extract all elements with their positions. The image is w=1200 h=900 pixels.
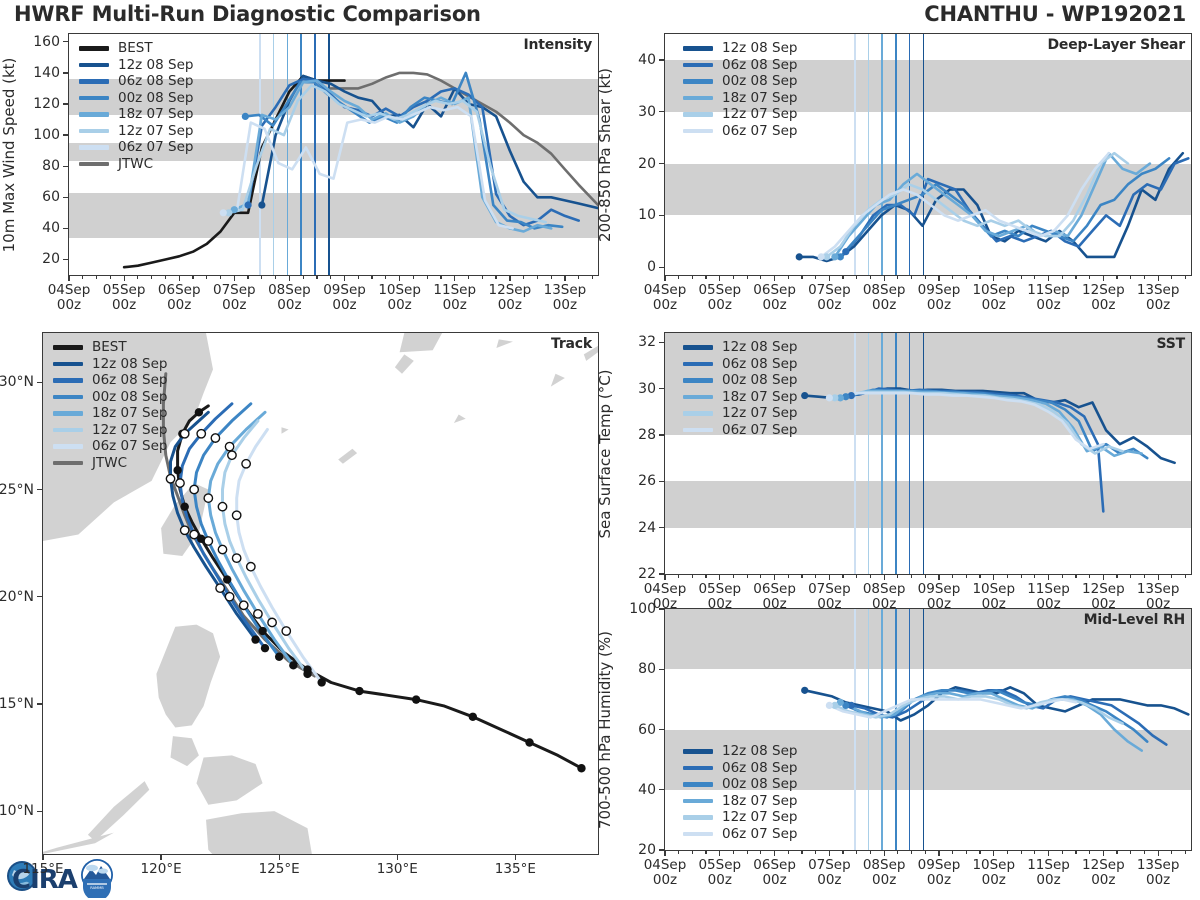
- x-tick-hour: 00z: [553, 297, 577, 313]
- intensity-x-tick-minor: [523, 276, 524, 279]
- forecast-track-marker: [232, 511, 240, 519]
- shear-x-tick-mark: [664, 276, 665, 281]
- sst-x-tick-minor: [1034, 575, 1035, 578]
- legend-item-label: 00z 08 Sep: [92, 389, 167, 405]
- legend-item: 00z 08 Sep: [683, 73, 797, 90]
- x-tick-hour: 00z: [1091, 297, 1115, 313]
- shear-y-tick-label: 0: [647, 259, 656, 275]
- intensity-x-tick-minor: [440, 276, 441, 279]
- forecast-track-marker: [218, 545, 226, 553]
- rh-x-tick-minor: [1130, 851, 1131, 854]
- forecast-track-marker: [232, 554, 240, 562]
- x-tick-date: 10Sep: [378, 282, 421, 298]
- legend-item: 06z 08 Sep: [53, 372, 167, 389]
- legend-item-label: 00z 08 Sep: [722, 372, 797, 388]
- track-y-tick-mark: [37, 811, 42, 812]
- forecast-track-marker: [181, 430, 189, 438]
- shear-x-tick-mark: [938, 276, 939, 281]
- rh-x-tick-minor: [1185, 851, 1186, 854]
- shear-x-tick-minor: [870, 276, 871, 279]
- legend-swatch-icon: [683, 815, 713, 820]
- intensity-x-tick-minor: [495, 276, 496, 279]
- intensity-init-marker: [220, 209, 227, 216]
- rh-x-tick-minor: [870, 851, 871, 854]
- shear-y-tick-mark: [659, 215, 664, 216]
- forecast-track-marker: [242, 460, 250, 468]
- sst-y-tick-mark: [659, 342, 664, 343]
- shear-x-tick-label: 13Sep00z: [1137, 283, 1180, 313]
- intensity-y-axis-label: 10m Max Wind Speed (kt): [0, 57, 18, 252]
- legend-item: 12z 08 Sep: [79, 57, 193, 74]
- page-title-left: HWRF Multi-Run Diagnostic Comparison: [14, 2, 481, 26]
- forecast-track-marker: [204, 494, 212, 502]
- shear-x-tick-mark: [719, 276, 720, 281]
- rh-x-tick-minor: [1021, 851, 1022, 854]
- intensity-x-tick-minor: [303, 276, 304, 279]
- rh-x-tick-minor: [911, 851, 912, 854]
- shear-init-marker: [842, 248, 849, 255]
- legend-swatch-icon: [53, 444, 83, 449]
- intensity-x-tick-label: 10Sep00z: [378, 283, 421, 313]
- shear-x-tick-minor: [801, 276, 802, 279]
- legend-item-label: 18z 07 Sep: [118, 106, 193, 122]
- x-tick-hour: 00z: [1091, 596, 1115, 612]
- legend-item: BEST: [53, 339, 167, 356]
- shear-x-tick-minor: [1116, 276, 1117, 279]
- shear-x-tick-minor: [966, 276, 967, 279]
- legend-item: 18z 07 Sep: [53, 405, 167, 422]
- sst-x-tick-minor: [1089, 575, 1090, 578]
- sst-y-tick-label: 28: [638, 427, 656, 443]
- intensity-x-tick-mark: [344, 276, 345, 281]
- rh-x-tick-mark: [1158, 851, 1159, 856]
- forecast-track-marker: [254, 610, 262, 618]
- x-tick-hour: 00z: [872, 872, 896, 888]
- shear-x-tick-minor: [788, 276, 789, 279]
- legend-item: 12z 08 Sep: [683, 339, 797, 356]
- rh-x-tick-mark: [1048, 851, 1049, 856]
- x-tick-hour: 00z: [872, 596, 896, 612]
- shear-init-marker: [818, 253, 825, 260]
- sst-x-tick-minor: [952, 575, 953, 578]
- legend-item-label: 12z 07 Sep: [722, 405, 797, 421]
- x-tick-hour: 00z: [982, 596, 1006, 612]
- intensity-x-tick-label: 13Sep00z: [544, 283, 587, 313]
- intensity-x-tick-minor: [371, 276, 372, 279]
- legend-item-label: 12z 08 Sep: [722, 339, 797, 355]
- intensity-x-tick-mark: [454, 276, 455, 281]
- x-tick-date: 05Sep: [698, 857, 741, 873]
- shear-y-tick-mark: [659, 59, 664, 60]
- forecast-track-marker: [190, 530, 198, 538]
- sst-y-tick-label: 30: [638, 381, 656, 397]
- rh-x-tick-label: 10Sep00z: [972, 858, 1015, 888]
- sst-x-tick-minor: [678, 575, 679, 578]
- forecast-init-marker: [251, 635, 259, 643]
- sst-x-tick-minor: [815, 575, 816, 578]
- best-track-marker: [412, 695, 420, 703]
- x-tick-date: 12Sep: [1082, 857, 1125, 873]
- x-tick-date: 09Sep: [323, 282, 366, 298]
- legend-item: 12z 08 Sep: [683, 743, 797, 760]
- sst-x-tick-mark: [719, 575, 720, 580]
- legend-item-label: JTWC: [92, 455, 127, 471]
- rh-legend: 12z 08 Sep06z 08 Sep00z 08 Sep18z 07 Sep…: [679, 741, 801, 844]
- legend-item: 00z 08 Sep: [79, 90, 193, 107]
- track-y-tick-mark: [37, 489, 42, 490]
- x-tick-hour: 00z: [653, 872, 677, 888]
- track-x-tick-label: 130°E: [377, 862, 418, 877]
- legend-item: 12z 07 Sep: [683, 106, 797, 123]
- intensity-y-tick-mark: [63, 259, 68, 260]
- x-tick-date: 04Sep: [48, 282, 91, 298]
- track-y-tick-label: 20°N: [0, 589, 34, 605]
- sst-x-tick-label: 11Sep00z: [1027, 582, 1070, 612]
- legend-item-label: 06z 07 Sep: [722, 123, 797, 139]
- x-tick-hour: 00z: [443, 297, 467, 313]
- rh-x-tick-label: 09Sep00z: [918, 858, 961, 888]
- x-tick-date: 13Sep: [1137, 857, 1180, 873]
- rh-x-tick-minor: [760, 851, 761, 854]
- intensity-x-tick-minor: [578, 276, 579, 279]
- sst-y-tick-label: 24: [638, 520, 656, 536]
- intensity-y-tick-label: 60: [42, 189, 60, 205]
- legend-item: 06z 08 Sep: [683, 57, 797, 74]
- sst-init-marker: [826, 394, 833, 401]
- shear-x-tick-minor: [733, 276, 734, 279]
- intensity-y-tick-label: 160: [33, 34, 60, 50]
- track-y-tick-mark: [37, 382, 42, 383]
- rh-x-tick-mark: [774, 851, 775, 856]
- intensity-plot-area[interactable]: IntensityBEST12z 08 Sep06z 08 Sep00z 08 …: [68, 33, 599, 276]
- intensity-x-tick-label: 09Sep00z: [323, 283, 366, 313]
- x-tick-date: 08Sep: [268, 282, 311, 298]
- x-tick-hour: 00z: [387, 297, 411, 313]
- rh-x-tick-mark: [1103, 851, 1104, 856]
- shear-x-tick-minor: [842, 276, 843, 279]
- forecast-init-marker: [317, 678, 325, 686]
- x-tick-date: 05Sep: [698, 581, 741, 597]
- legend-item: 00z 08 Sep: [53, 389, 167, 406]
- rh-x-tick-minor: [692, 851, 693, 854]
- x-tick-date: 06Sep: [753, 581, 796, 597]
- x-tick-date: 11Sep: [1027, 857, 1070, 873]
- shear-x-tick-minor: [705, 276, 706, 279]
- legend-swatch-icon: [683, 799, 713, 804]
- sst-x-tick-label: 10Sep00z: [972, 582, 1015, 612]
- intensity-x-tick-minor: [261, 276, 262, 279]
- intensity-x-tick-minor: [192, 276, 193, 279]
- x-tick-hour: 00z: [817, 872, 841, 888]
- intensity-x-tick-label: 12Sep00z: [489, 283, 532, 313]
- x-tick-hour: 00z: [332, 297, 356, 313]
- legend-swatch-icon: [79, 79, 109, 84]
- rh-x-tick-minor: [925, 851, 926, 854]
- rh-x-tick-label: 08Sep00z: [863, 858, 906, 888]
- sst-x-tick-minor: [801, 575, 802, 578]
- sst-plot-area[interactable]: SST12z 08 Sep06z 08 Sep00z 08 Sep18z 07 …: [664, 332, 1192, 575]
- shear-plot-area[interactable]: Deep-Layer Shear12z 08 Sep06z 08 Sep00z …: [664, 33, 1192, 276]
- x-tick-hour: 00z: [762, 872, 786, 888]
- coastline-palawan: [88, 781, 149, 841]
- shear-x-tick-label: 07Sep00z: [808, 283, 851, 313]
- track-y-tick-mark: [37, 703, 42, 704]
- coastline-mindanao: [206, 811, 312, 855]
- rh-y-tick-label: 40: [638, 782, 656, 798]
- shear-x-tick-minor: [1007, 276, 1008, 279]
- x-tick-date: 10Sep: [972, 857, 1015, 873]
- rh-x-tick-minor: [1171, 851, 1172, 854]
- x-tick-hour: 00z: [708, 872, 732, 888]
- sst-x-tick-minor: [979, 575, 980, 578]
- best-track-marker: [173, 466, 181, 474]
- shear-y-tick-mark: [659, 163, 664, 164]
- track-x-tick-label: 115°E: [22, 862, 63, 877]
- rh-y-tick-label: 80: [638, 661, 656, 677]
- x-tick-date: 12Sep: [1082, 581, 1125, 597]
- intensity-x-tick-label: 05Sep00z: [103, 283, 146, 313]
- forecast-track-marker: [197, 430, 205, 438]
- legend-item: 06z 07 Sep: [683, 422, 797, 439]
- sst-x-tick-mark: [829, 575, 830, 580]
- rh-x-tick-label: 06Sep00z: [753, 858, 796, 888]
- x-tick-hour: 00z: [872, 297, 896, 313]
- rh-y-tick-mark: [659, 729, 664, 730]
- shear-x-tick-label: 08Sep00z: [863, 283, 906, 313]
- legend-item-label: 12z 08 Sep: [722, 743, 797, 759]
- legend-item: 12z 08 Sep: [53, 356, 167, 373]
- best-track-marker: [258, 627, 266, 635]
- sst-x-tick-minor: [1130, 575, 1131, 578]
- rh-x-tick-mark: [938, 851, 939, 856]
- shear-x-tick-mark: [884, 276, 885, 281]
- coastline-china-inland: [42, 333, 43, 565]
- legend-swatch-icon: [53, 461, 83, 466]
- legend-item: 18z 07 Sep: [683, 389, 797, 406]
- coastline-kyushu: [400, 333, 443, 352]
- x-tick-date: 13Sep: [1137, 581, 1180, 597]
- shear-x-tick-label: 12Sep00z: [1082, 283, 1125, 313]
- rh-x-tick-minor: [815, 851, 816, 854]
- legend-swatch-icon: [683, 411, 713, 416]
- rh-x-tick-label: 11Sep00z: [1027, 858, 1070, 888]
- rh-x-tick-minor: [842, 851, 843, 854]
- intensity-legend: BEST12z 08 Sep06z 08 Sep00z 08 Sep18z 07…: [75, 38, 197, 174]
- forecast-track-marker: [204, 537, 212, 545]
- forecast-init-marker: [303, 670, 311, 678]
- track-x-tick-mark: [397, 855, 398, 860]
- rh-x-tick-label: 04Sep00z: [644, 858, 687, 888]
- x-tick-date: 07Sep: [808, 857, 851, 873]
- intensity-x-tick-minor: [275, 276, 276, 279]
- legend-swatch-icon: [53, 345, 83, 350]
- intensity-x-tick-mark: [68, 276, 69, 281]
- page-title-right: CHANTHU - WP192021: [924, 2, 1186, 26]
- legend-item: 18z 07 Sep: [683, 793, 797, 810]
- sst-x-tick-mark: [938, 575, 939, 580]
- shear-x-tick-minor: [678, 276, 679, 279]
- rh-y-tick-mark: [659, 789, 664, 790]
- forecast-track-marker: [190, 485, 198, 493]
- shear-x-tick-label: 04Sep00z: [644, 283, 687, 313]
- sst-x-tick-minor: [925, 575, 926, 578]
- shear-init-marker: [796, 253, 803, 260]
- sst-y-tick-mark: [659, 527, 664, 528]
- legend-swatch-icon: [683, 378, 713, 383]
- intensity-x-tick-minor: [427, 276, 428, 279]
- shear-x-tick-mark: [829, 276, 830, 281]
- coastline-visayas-2: [197, 755, 263, 804]
- best-track-marker: [223, 575, 231, 583]
- sst-y-tick-mark: [659, 388, 664, 389]
- x-tick-date: 13Sep: [1137, 282, 1180, 298]
- intensity-x-tick-minor: [151, 276, 152, 279]
- forecast-track-marker: [181, 526, 189, 534]
- sst-x-tick-mark: [1103, 575, 1104, 580]
- intensity-x-tick-minor: [96, 276, 97, 279]
- shear-x-tick-minor: [1034, 276, 1035, 279]
- forecast-track-marker: [268, 618, 276, 626]
- shear-panel-title: Deep-Layer Shear: [1048, 37, 1185, 53]
- legend-swatch-icon: [683, 749, 713, 754]
- rh-y-axis-label: 700-500 hPa Humidity (%): [596, 630, 614, 828]
- legend-swatch-icon: [683, 79, 713, 84]
- x-tick-date: 11Sep: [433, 282, 476, 298]
- forecast-init-marker: [275, 653, 283, 661]
- sst-y-axis-label: Sea Surface Temp (°C): [596, 369, 614, 538]
- rh-y-tick-mark: [659, 669, 664, 670]
- track-plot-area[interactable]: TrackBEST12z 08 Sep06z 08 Sep00z 08 Sep1…: [42, 332, 599, 855]
- shear-x-tick-minor: [897, 276, 898, 279]
- shear-y-tick-mark: [659, 111, 664, 112]
- x-tick-date: 12Sep: [489, 282, 532, 298]
- sst-x-tick-minor: [1185, 575, 1186, 578]
- forecast-track-marker: [228, 451, 236, 459]
- intensity-x-tick-minor: [82, 276, 83, 279]
- rh-panel-title: Mid-Level RH: [1084, 612, 1185, 628]
- forecast-track-marker: [225, 442, 233, 450]
- intensity-y-tick-label: 100: [33, 127, 60, 143]
- x-tick-date: 08Sep: [863, 581, 906, 597]
- sst-x-tick-label: 12Sep00z: [1082, 582, 1125, 612]
- sst-x-tick-label: 05Sep00z: [698, 582, 741, 612]
- sst-x-tick-minor: [911, 575, 912, 578]
- sst-x-tick-minor: [1171, 575, 1172, 578]
- track-x-tick-mark: [279, 855, 280, 860]
- rh-x-tick-minor: [856, 851, 857, 854]
- sst-x-tick-label: 06Sep00z: [753, 582, 796, 612]
- forecast-track-marker: [218, 502, 226, 510]
- legend-swatch-icon: [683, 766, 713, 771]
- sst-x-tick-minor: [760, 575, 761, 578]
- sst-x-tick-minor: [747, 575, 748, 578]
- rh-y-tick-label: 20: [638, 842, 656, 858]
- x-tick-hour: 00z: [1036, 297, 1060, 313]
- shear-x-tick-mark: [1103, 276, 1104, 281]
- rh-plot-area[interactable]: Mid-Level RH12z 08 Sep06z 08 Sep00z 08 S…: [664, 608, 1192, 851]
- legend-swatch-icon: [683, 46, 713, 51]
- intensity-x-tick-label: 07Sep00z: [213, 283, 256, 313]
- sst-x-tick-label: 07Sep00z: [808, 582, 851, 612]
- x-tick-hour: 00z: [222, 297, 246, 313]
- shear-x-tick-label: 09Sep00z: [918, 283, 961, 313]
- track-x-tick-label: 120°E: [141, 862, 182, 877]
- coastline-islet-1: [454, 415, 466, 424]
- legend-swatch-icon: [53, 395, 83, 400]
- legend-swatch-icon: [79, 63, 109, 68]
- x-tick-hour: 00z: [653, 596, 677, 612]
- x-tick-date: 08Sep: [863, 857, 906, 873]
- x-tick-hour: 00z: [1036, 872, 1060, 888]
- track-x-tick-mark: [160, 855, 161, 860]
- shear-x-tick-mark: [774, 276, 775, 281]
- rh-x-tick-minor: [788, 851, 789, 854]
- legend-swatch-icon: [53, 362, 83, 367]
- x-tick-hour: 00z: [498, 297, 522, 313]
- legend-swatch-icon: [683, 112, 713, 117]
- shear-x-tick-minor: [1062, 276, 1063, 279]
- legend-item: 18z 07 Sep: [79, 106, 193, 123]
- shear-x-tick-minor: [1130, 276, 1131, 279]
- shear-x-tick-minor: [1144, 276, 1145, 279]
- legend-item-label: 18z 07 Sep: [722, 793, 797, 809]
- sst-y-tick-mark: [659, 573, 664, 574]
- legend-item: 06z 07 Sep: [683, 123, 797, 140]
- rh-x-tick-minor: [733, 851, 734, 854]
- track-y-tick-mark: [37, 596, 42, 597]
- legend-item: JTWC: [53, 455, 167, 472]
- rh-y-tick-mark: [659, 608, 664, 609]
- x-tick-date: 05Sep: [103, 282, 146, 298]
- track-y-tick-label: 25°N: [0, 482, 34, 498]
- legend-item: 12z 07 Sep: [683, 809, 797, 826]
- sst-x-tick-minor: [705, 575, 706, 578]
- legend-swatch-icon: [683, 96, 713, 101]
- legend-item-label: 06z 07 Sep: [92, 438, 167, 454]
- shear-x-tick-minor: [1089, 276, 1090, 279]
- x-tick-date: 07Sep: [213, 282, 256, 298]
- legend-item-label: 12z 07 Sep: [722, 106, 797, 122]
- shear-x-tick-minor: [979, 276, 980, 279]
- legend-item: 12z 07 Sep: [683, 405, 797, 422]
- x-tick-date: 09Sep: [918, 857, 961, 873]
- x-tick-hour: 00z: [708, 297, 732, 313]
- legend-item: 12z 07 Sep: [79, 123, 193, 140]
- x-tick-hour: 00z: [927, 872, 951, 888]
- sst-x-tick-label: 08Sep00z: [863, 582, 906, 612]
- x-tick-date: 10Sep: [972, 581, 1015, 597]
- shear-x-tick-minor: [856, 276, 857, 279]
- sst-x-tick-minor: [966, 575, 967, 578]
- coastline-ryukyu-2: [395, 354, 414, 373]
- x-tick-date: 11Sep: [1027, 282, 1070, 298]
- legend-item-label: 06z 08 Sep: [722, 760, 797, 776]
- legend-item: 12z 08 Sep: [683, 40, 797, 57]
- sst-x-tick-mark: [993, 575, 994, 580]
- sst-x-tick-mark: [884, 575, 885, 580]
- x-tick-hour: 00z: [927, 297, 951, 313]
- intensity-init-marker: [258, 201, 265, 208]
- rh-init-marker: [801, 687, 808, 694]
- x-tick-hour: 00z: [1146, 596, 1170, 612]
- coastline-luzon: [156, 625, 220, 728]
- intensity-series-06z-07-sep: [223, 107, 512, 228]
- rh-x-tick-minor: [801, 851, 802, 854]
- legend-swatch-icon: [79, 162, 109, 167]
- sst-x-tick-minor: [1075, 575, 1076, 578]
- forecast-track-marker: [225, 593, 233, 601]
- x-tick-hour: 00z: [112, 297, 136, 313]
